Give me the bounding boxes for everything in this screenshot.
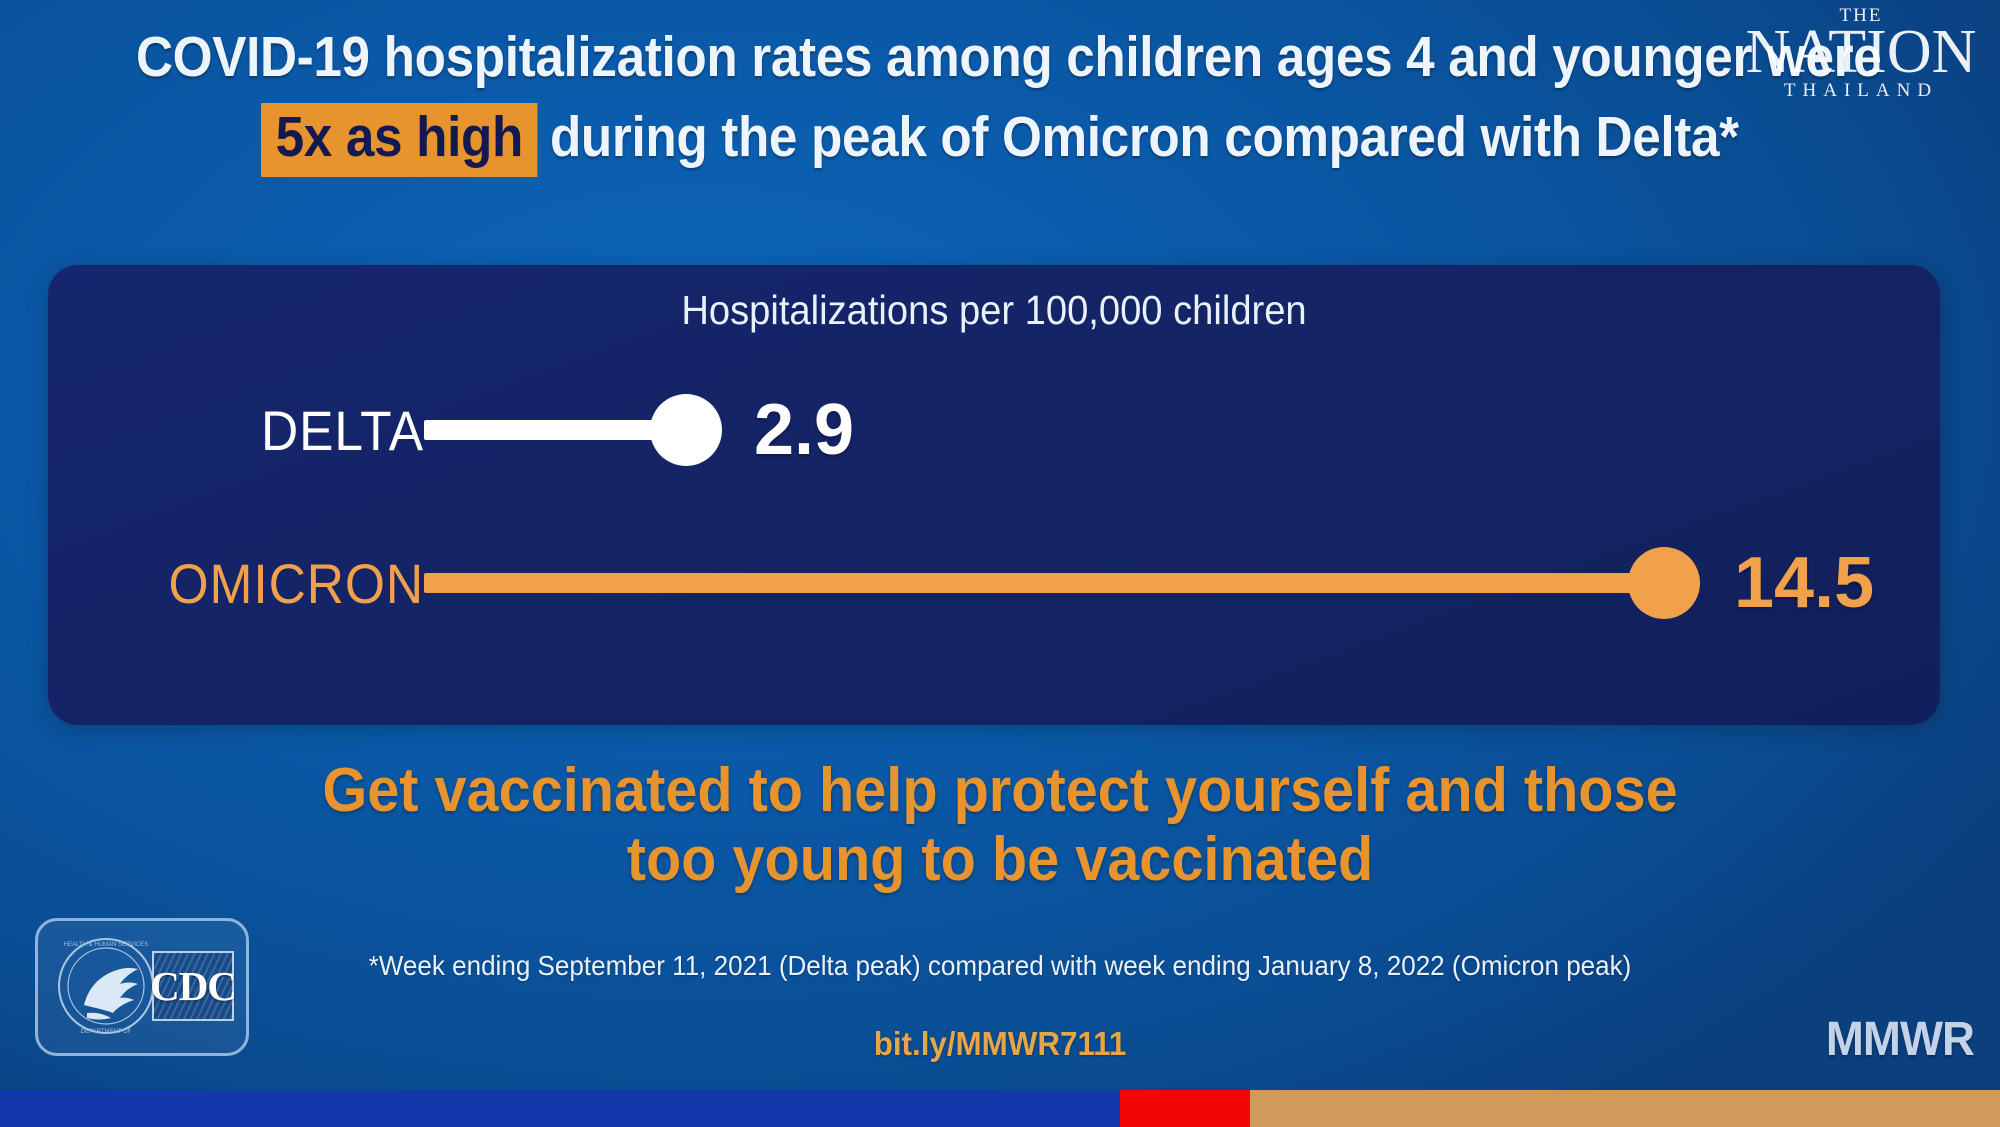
bottom-color-strip xyxy=(0,1090,2000,1127)
strip-segment-red xyxy=(1120,1090,1250,1127)
strip-segment-tan xyxy=(1250,1090,2000,1127)
headline-block: COVID-19 hospitalization rates among chi… xyxy=(0,28,2000,177)
bar-fill-omicron xyxy=(424,573,1646,593)
chart-title: Hospitalizations per 100,000 children xyxy=(114,287,1874,334)
svg-text:HEALTH & HUMAN SERVICES: HEALTH & HUMAN SERVICES xyxy=(64,942,148,948)
bar-label-delta: DELTA xyxy=(170,370,424,490)
svg-text:DEPARTMENT OF: DEPARTMENT OF xyxy=(81,1029,132,1035)
bar-fill-delta xyxy=(424,420,668,440)
bar-track-delta: 2.9 xyxy=(424,370,1940,490)
bar-row-omicron: OMICRON 14.5 xyxy=(48,523,1940,643)
bar-label-omicron: OMICRON xyxy=(96,523,424,643)
hhs-eagle-seal-icon: HEALTH & HUMAN SERVICES DEPARTMENT OF xyxy=(54,933,158,1039)
short-url-link[interactable]: bit.ly/MMWR7111 xyxy=(50,1025,1950,1063)
bar-row-delta: DELTA 2.9 xyxy=(48,370,1940,490)
headline-line-2: 5x as highduring the peak of Omicron com… xyxy=(136,103,1864,176)
cdc-wordmark-box: CDC xyxy=(152,951,234,1021)
headline-highlight-badge: 5x as high xyxy=(261,103,537,176)
footnote-text: *Week ending September 11, 2021 (Delta p… xyxy=(70,950,1930,982)
cdc-hhs-logo: HEALTH & HUMAN SERVICES DEPARTMENT OF CD… xyxy=(35,918,249,1056)
strip-segment-blue xyxy=(0,1090,1120,1127)
infographic-canvas: COVID-19 hospitalization rates among chi… xyxy=(0,0,2000,1127)
mmwr-logo: MMWR xyxy=(1826,1012,1974,1067)
headline-line-2-rest: during the peak of Omicron compared with… xyxy=(550,105,1739,169)
bar-value-omicron: 14.5 xyxy=(1734,542,1874,624)
call-to-action: Get vaccinated to help protect yourself … xyxy=(70,756,1930,895)
bar-value-delta: 2.9 xyxy=(754,389,854,471)
bar-endpoint-dot-omicron xyxy=(1628,547,1700,619)
cdc-wordmark-text: CDC xyxy=(150,966,236,1007)
cta-line-1: Get vaccinated to help protect yourself … xyxy=(70,756,1930,825)
cta-line-2: too young to be vaccinated xyxy=(70,825,1930,894)
bar-endpoint-dot-delta xyxy=(650,394,722,466)
headline-line-1: COVID-19 hospitalization rates among chi… xyxy=(136,28,1864,87)
watermark-the: THE xyxy=(1736,6,1986,25)
bar-track-omicron: 14.5 xyxy=(424,523,1940,643)
chart-card: Hospitalizations per 100,000 children DE… xyxy=(48,265,1940,725)
